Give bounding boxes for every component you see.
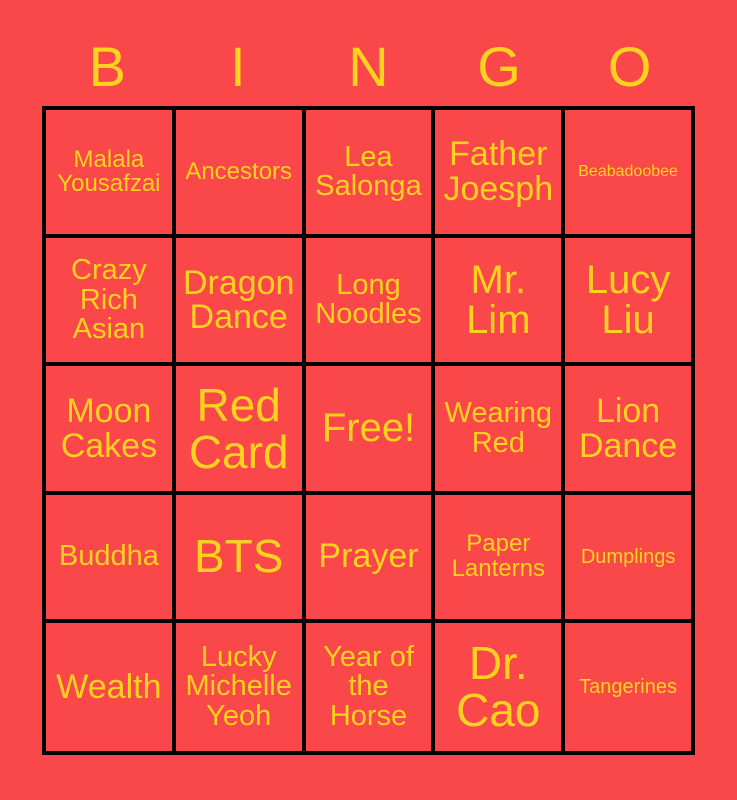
- header-letter-o: O: [564, 30, 695, 104]
- bingo-cell[interactable]: Lion Dance: [565, 366, 691, 494]
- bingo-cell-label: Beabadoobee: [569, 164, 687, 180]
- bingo-cell-label: Mr. Lim: [439, 260, 557, 342]
- bingo-cell-label: Moon Cakes: [50, 394, 168, 463]
- bingo-cell-label: Ancestors: [180, 160, 298, 184]
- bingo-cell-label: Lea Salonga: [310, 143, 428, 202]
- header-letter-n: N: [303, 30, 434, 104]
- bingo-cell-label: Wearing Red: [439, 399, 557, 458]
- bingo-cell-label: Father Joesph: [439, 137, 557, 206]
- bingo-cell[interactable]: Paper Lanterns: [435, 495, 565, 623]
- header-letter-i: I: [173, 30, 304, 104]
- bingo-cell[interactable]: Long Noodles: [306, 238, 436, 366]
- bingo-cell-label: Wealth: [50, 670, 168, 705]
- bingo-cell[interactable]: Dr. Cao: [435, 623, 565, 751]
- bingo-cell-label: Crazy Rich Asian: [50, 256, 168, 345]
- bingo-cell[interactable]: Year of the Horse: [306, 623, 436, 751]
- bingo-cell-label: Lion Dance: [569, 394, 687, 463]
- bingo-cell[interactable]: Mr. Lim: [435, 238, 565, 366]
- bingo-cell-label: Prayer: [310, 539, 428, 574]
- bingo-header: B I N G O: [42, 30, 695, 104]
- bingo-cell-label: Tangerines: [569, 677, 687, 697]
- bingo-cell-label: Dr. Cao: [439, 640, 557, 734]
- bingo-card: B I N G O Malala Yousafzai Ancestors Lea…: [0, 0, 737, 800]
- bingo-cell[interactable]: Moon Cakes: [46, 366, 176, 494]
- bingo-cell[interactable]: Buddha: [46, 495, 176, 623]
- bingo-cell-label: Buddha: [50, 542, 168, 572]
- bingo-cell-label: Lucy Liu: [569, 260, 687, 342]
- header-letter-g: G: [434, 30, 565, 104]
- bingo-row: Malala Yousafzai Ancestors Lea Salonga F…: [46, 110, 691, 238]
- bingo-cell[interactable]: Dumplings: [565, 495, 691, 623]
- bingo-cell-label: Red Card: [180, 382, 298, 476]
- bingo-cell[interactable]: Beabadoobee: [565, 110, 691, 238]
- bingo-cell[interactable]: Father Joesph: [435, 110, 565, 238]
- bingo-cell-label: Paper Lanterns: [439, 532, 557, 581]
- bingo-cell-label: Lucky Michelle Yeoh: [180, 643, 298, 732]
- bingo-cell-label: Free!: [310, 408, 428, 449]
- bingo-cell[interactable]: Red Card: [176, 366, 306, 494]
- bingo-cell[interactable]: Malala Yousafzai: [46, 110, 176, 238]
- bingo-cell[interactable]: Wealth: [46, 623, 176, 751]
- bingo-cell[interactable]: Lea Salonga: [306, 110, 436, 238]
- bingo-cell-label: Dragon Dance: [180, 266, 298, 335]
- bingo-cell[interactable]: Lucky Michelle Yeoh: [176, 623, 306, 751]
- bingo-row: Wealth Lucky Michelle Yeoh Year of the H…: [46, 623, 691, 751]
- bingo-cell[interactable]: Dragon Dance: [176, 238, 306, 366]
- bingo-cell-label: Long Noodles: [310, 271, 428, 330]
- bingo-cell[interactable]: Lucy Liu: [565, 238, 691, 366]
- bingo-cell-label: Dumplings: [569, 547, 687, 567]
- bingo-grid: Malala Yousafzai Ancestors Lea Salonga F…: [42, 106, 695, 755]
- bingo-cell-label: Malala Yousafzai: [50, 148, 168, 197]
- header-letter-b: B: [42, 30, 173, 104]
- bingo-cell-free[interactable]: Free!: [306, 366, 436, 494]
- bingo-cell[interactable]: Ancestors: [176, 110, 306, 238]
- bingo-cell[interactable]: Tangerines: [565, 623, 691, 751]
- bingo-cell[interactable]: Crazy Rich Asian: [46, 238, 176, 366]
- bingo-row: Moon Cakes Red Card Free! Wearing Red Li…: [46, 366, 691, 494]
- bingo-cell-label: Year of the Horse: [310, 643, 428, 732]
- bingo-row: Crazy Rich Asian Dragon Dance Long Noodl…: [46, 238, 691, 366]
- bingo-cell[interactable]: Prayer: [306, 495, 436, 623]
- bingo-row: Buddha BTS Prayer Paper Lanterns Dumplin…: [46, 495, 691, 623]
- bingo-cell[interactable]: BTS: [176, 495, 306, 623]
- bingo-cell[interactable]: Wearing Red: [435, 366, 565, 494]
- bingo-cell-label: BTS: [180, 533, 298, 580]
